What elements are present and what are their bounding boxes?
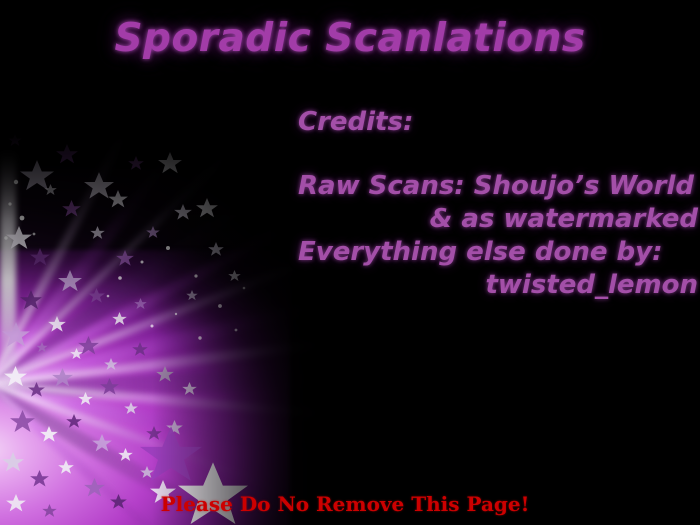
star-cluster-outer [8,134,241,300]
star-burst-artwork [0,130,330,525]
star-sparkle-dots [4,180,245,340]
light-ray [0,380,273,490]
light-ray [0,146,180,390]
do-not-remove-notice: Please Do No Remove This Page! [0,492,700,516]
light-ray [0,329,330,390]
credits-line-everything-else: Everything else done by: [298,236,698,269]
credits-line-raw-scans: Raw Scans: Shoujo’s World [298,170,698,203]
burst-vignette [0,130,330,525]
light-ray [0,380,330,424]
credits-heading: Credits: [298,106,698,139]
light-ray [0,138,244,386]
edge-light-beam [0,150,16,400]
burst-core-glow [0,250,290,525]
star-cluster-mid [2,226,197,435]
credits-line-author: twisted_lemon [298,269,698,302]
light-ray [0,194,254,397]
light-ray [0,237,330,388]
burst-soft-glow [0,170,330,525]
star-cluster-dense [2,342,162,517]
burst-ray-layer [0,130,330,525]
credits-page: Sporadic Scanlations Credits: Raw Scans:… [0,0,700,525]
light-ray [0,291,330,394]
light-ray [0,367,330,400]
light-ray [0,202,328,390]
burst-star-layer [0,130,330,525]
page-title: Sporadic Scanlations [0,16,700,61]
light-ray [0,380,324,463]
credits-spacer [298,139,698,170]
credits-line-watermarked: & as watermarked [298,203,698,236]
burst-glow-layer [0,130,330,525]
light-ray [0,130,149,387]
credits-block: Credits: Raw Scans: Shoujo’s World & as … [298,106,698,302]
